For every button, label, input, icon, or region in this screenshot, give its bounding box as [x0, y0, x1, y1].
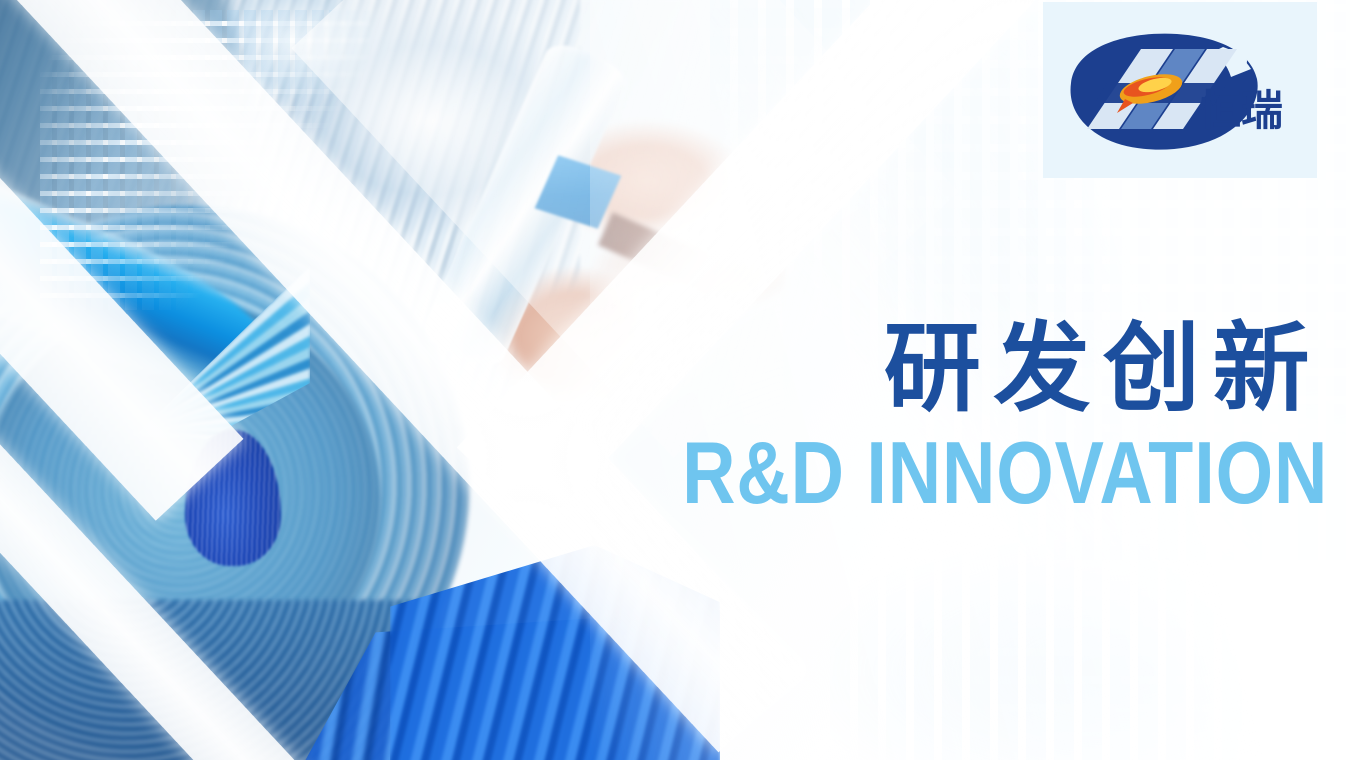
headline-chinese: 研发创新	[559, 320, 1328, 417]
hengrui-logo-icon: 恒瑞	[1055, 25, 1305, 155]
logo-container[interactable]: 恒瑞	[1043, 2, 1317, 178]
grid-pattern-sparse	[830, 510, 1350, 760]
headline-english: R&D INNOVATION	[682, 429, 1328, 517]
rd-innovation-banner: 恒瑞 研发创新 R&D INNOVATION	[0, 0, 1350, 760]
headline-block: 研发创新 R&D INNOVATION	[559, 320, 1328, 517]
logo-brand-text: 恒瑞	[1199, 86, 1283, 135]
